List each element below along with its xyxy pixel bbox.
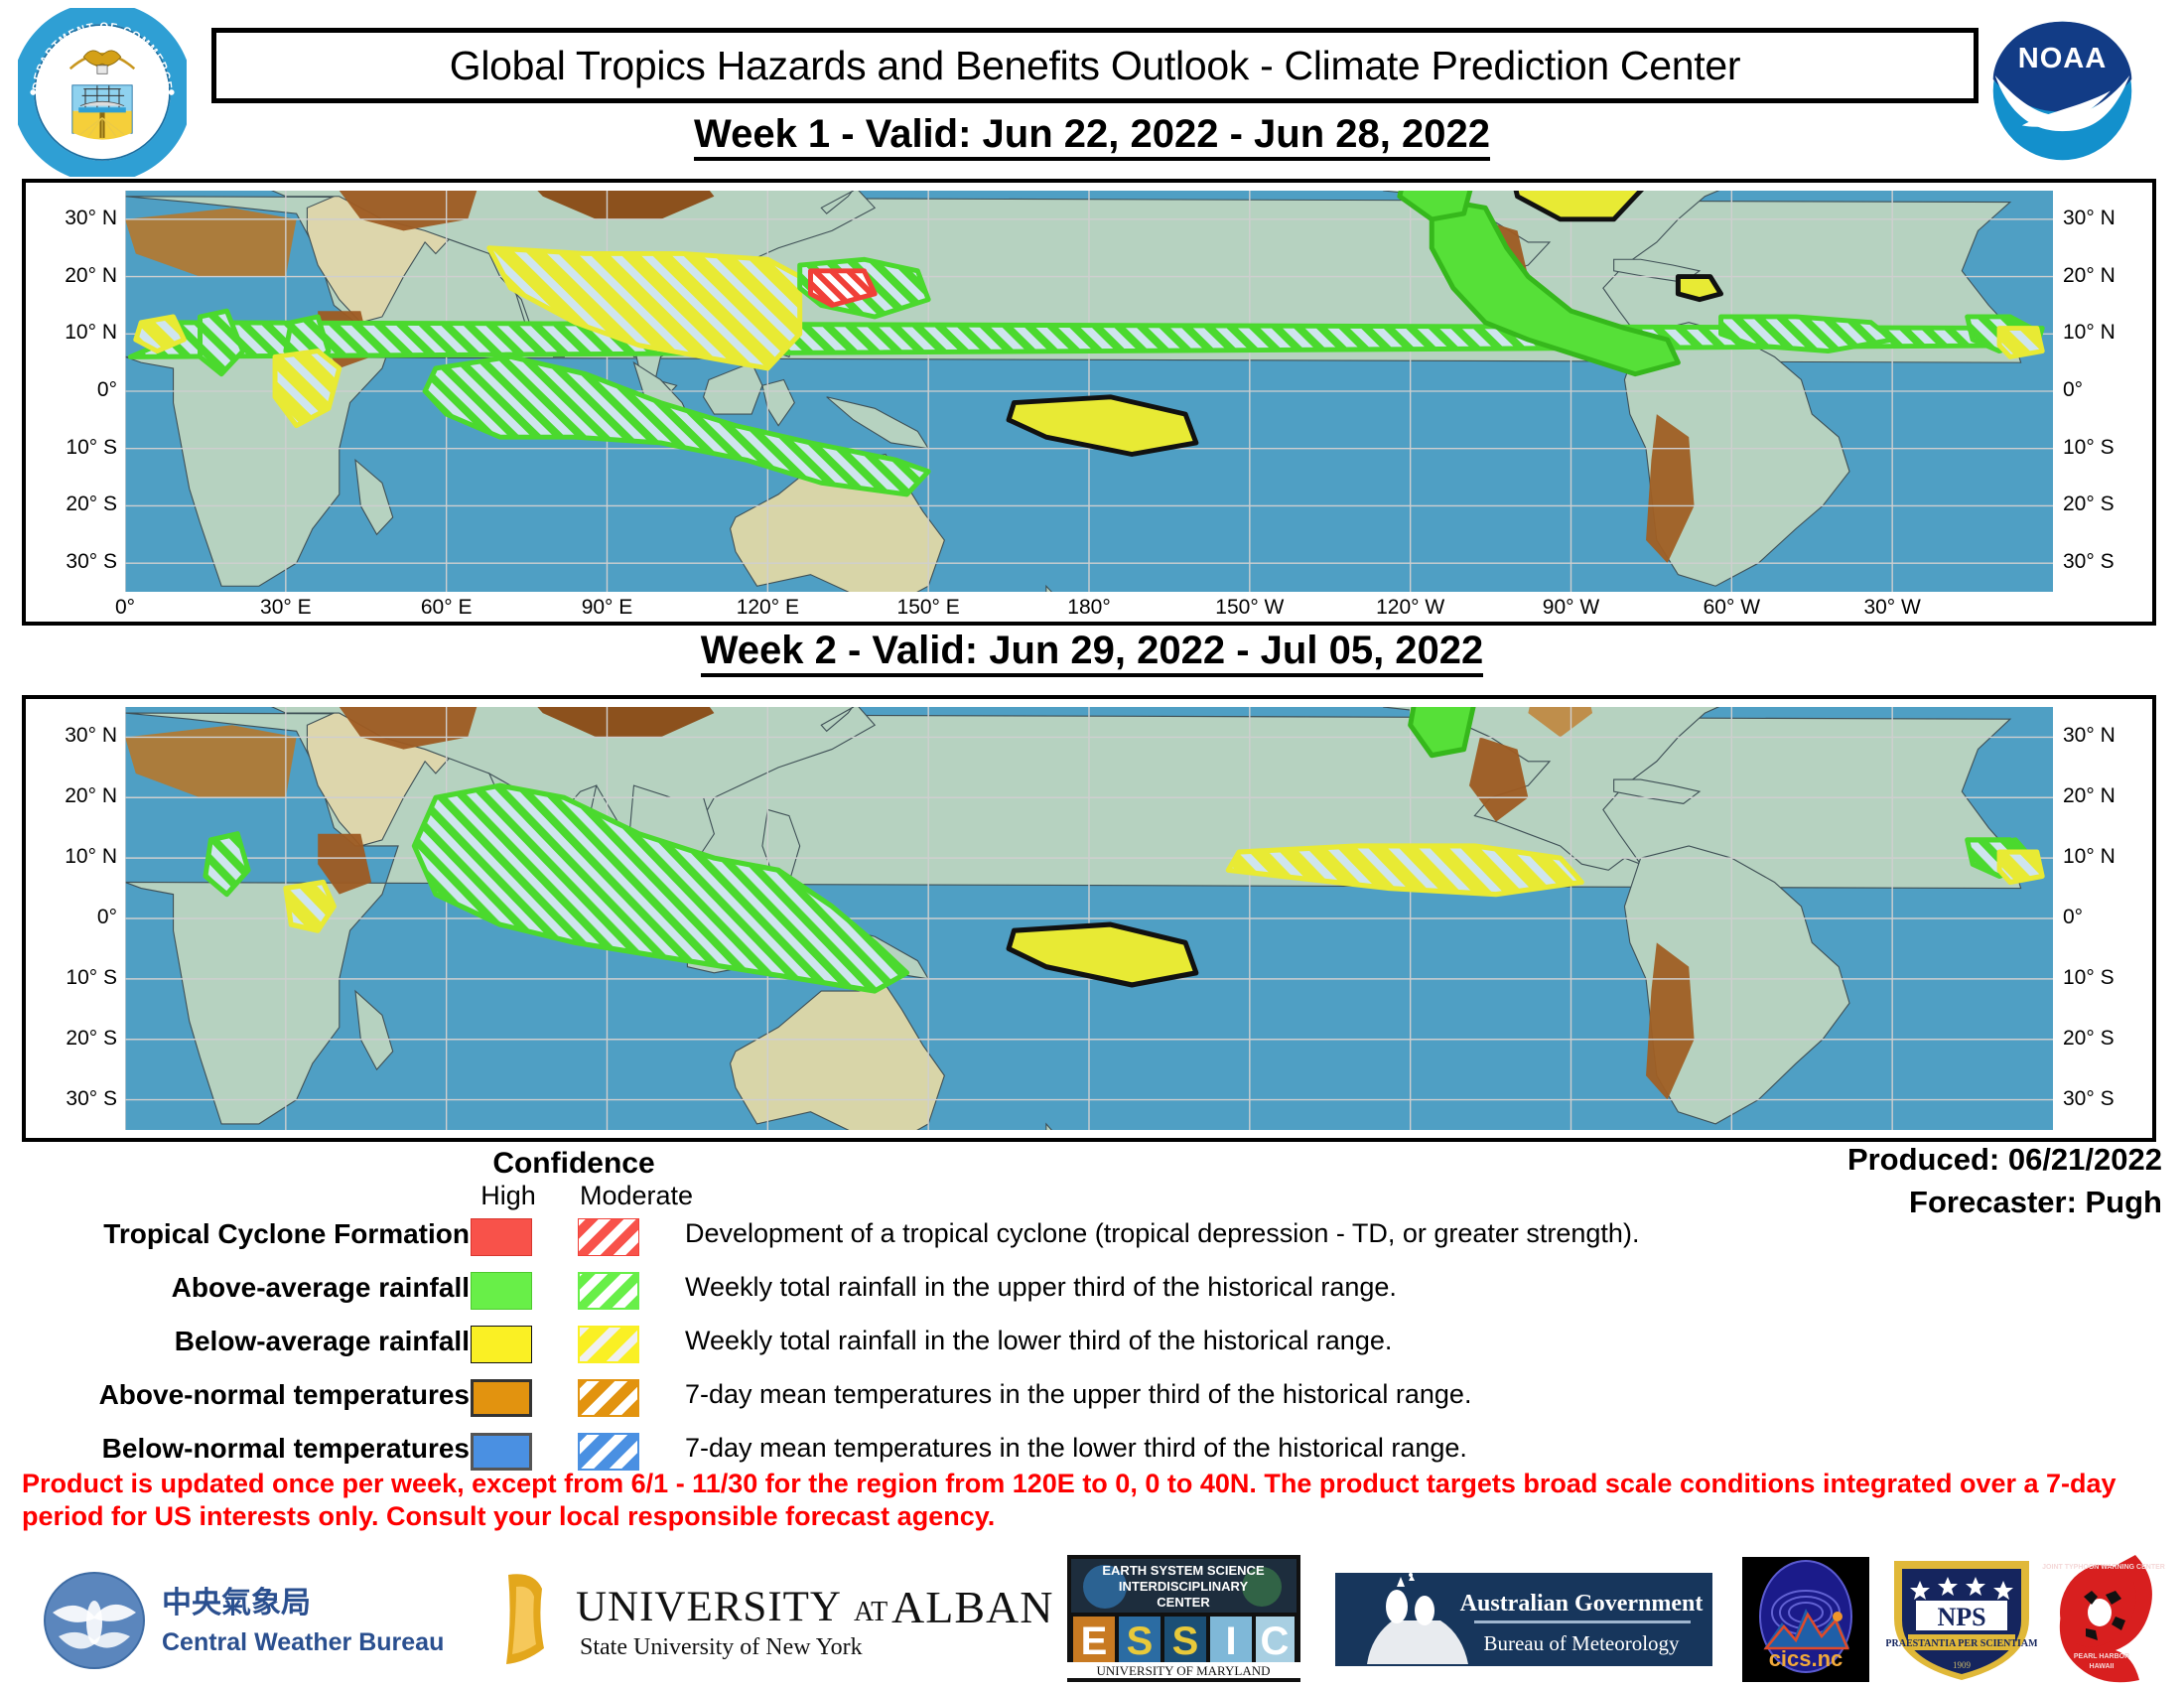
svg-text:E: E [1081,1619,1108,1663]
week1-title: Week 1 - Valid: Jun 22, 2022 - Jun 28, 2… [0,112,2184,157]
australian-bureau-of-meteorology-logo: Australian Government Bureau of Meteorol… [1335,1573,1712,1666]
svg-text:NOAA: NOAA [2018,43,2107,74]
swatch-above-rain-moderate [578,1272,639,1310]
map-svg [125,191,2053,592]
week2-title-text: Week 2 - Valid: Jun 29, 2022 - Jul 05, 2… [701,629,1484,677]
swatch-below-temp-moderate [578,1433,639,1471]
legend-description: Weekly total rainfall in the lower third… [685,1326,1392,1356]
swatch-below-temp-high [471,1433,532,1471]
central-weather-bureau-logo: 中央氣象局 Central Weather Bureau [35,1567,452,1670]
lat-label-left: 10° N [26,845,117,869]
lat-label-left: 30° N [26,724,117,748]
lon-label: 90° W [1543,596,1599,620]
swatch-below-rain-high [471,1326,532,1363]
legend-row-above-normal-temperatures: Above-normal temperatures 7-day mean tem… [0,1379,2184,1425]
svg-text:C: C [1261,1619,1290,1663]
week2-map-panel: 30° N30° N20° N20° N10° N10° N0°0°10° S1… [22,695,2156,1142]
lat-label-right: 10° S [2063,436,2115,460]
legend-label: Above-normal temperatures [99,1379,470,1411]
confidence-header: Confidence [475,1147,673,1181]
swatch-tc-moderate [578,1218,639,1256]
lon-label: 120° W [1376,596,1444,620]
lon-label: 150° W [1215,596,1284,620]
lat-label-right: 30° N [2063,724,2116,748]
lat-label-right: 0° [2063,378,2083,402]
lat-label-right: 30° S [2063,1087,2115,1111]
lat-label-left: 10° S [26,966,117,990]
svg-text:S: S [1172,1619,1199,1663]
lat-label-left: 0° [26,906,117,929]
lat-label-left: 30° S [26,550,117,574]
legend-description: 7-day mean temperatures in the lower thi… [685,1433,1467,1464]
forecaster-name: Forecaster: Pugh [1909,1185,2162,1220]
legend-description: Weekly total rainfall in the upper third… [685,1272,1397,1303]
svg-text:Australian Government: Australian Government [1460,1591,1704,1617]
lat-label-right: 10° S [2063,966,2115,990]
swatch-tc-high [471,1218,532,1256]
page-title: Global Tropics Hazards and Benefits Outl… [450,43,1740,89]
partner-logos: 中央氣象局 Central Weather Bureau UNIVERSITY … [0,1549,2184,1688]
confidence-high-label: High [463,1181,554,1211]
legend-label: Below-normal temperatures [102,1433,470,1465]
produced-date: Produced: 06/21/2022 [1847,1142,2162,1178]
svg-text:I: I [1225,1619,1236,1663]
lon-label: 60° W [1704,596,1760,620]
lat-label-right: 20° S [2063,1027,2115,1051]
main-title-box: Global Tropics Hazards and Benefits Outl… [211,28,1979,103]
lat-label-left: 20° S [26,1027,117,1051]
svg-text:CENTER: CENTER [1157,1595,1210,1610]
svg-text:1909: 1909 [1953,1660,1972,1670]
legend-row-below-average-rainfall: Below-average rainfall Weekly total rain… [0,1326,2184,1371]
swatch-above-temp-moderate [578,1379,639,1417]
svg-text:UNIVERSITY OF MARYLAND: UNIVERSITY OF MARYLAND [1096,1663,1270,1678]
disclaimer-text: Product is updated once per week, except… [22,1468,2166,1533]
legend-description: Development of a tropical cyclone (tropi… [685,1218,1639,1249]
university-at-albany-logo: UNIVERSITY AT ALBANY State University of… [496,1569,1052,1668]
legend-label: Tropical Cyclone Formation [103,1218,470,1250]
svg-text:PRAESTANTIA PER SCIENTIAM: PRAESTANTIA PER SCIENTIAM [1886,1638,2037,1649]
lat-label-left: 10° N [26,321,117,345]
lat-label-left: 30° N [26,207,117,230]
lon-label: 30° W [1863,596,1920,620]
lat-label-right: 30° S [2063,550,2115,574]
svg-text:S: S [1127,1619,1154,1663]
legend-description: 7-day mean temperatures in the upper thi… [685,1379,1471,1410]
lon-label: 120° E [737,596,799,620]
lat-label-right: 10° N [2063,321,2116,345]
week1-map-canvas[interactable] [125,191,2053,592]
lat-label-left: 20° N [26,784,117,808]
cwb-english-label: Central Weather Bureau [162,1628,444,1656]
svg-text:INTERDISCIPLINARY: INTERDISCIPLINARY [1119,1579,1249,1594]
lat-label-right: 0° [2063,906,2083,929]
svg-text:JOINT TYPHOON WARNING CENTER: JOINT TYPHOON WARNING CENTER [2042,1564,2165,1571]
week2-title: Week 2 - Valid: Jun 29, 2022 - Jul 05, 2… [0,629,2184,673]
swatch-above-rain-high [471,1272,532,1310]
cwb-chinese-label: 中央氣象局 [162,1586,311,1620]
lat-label-left: 20° S [26,492,117,516]
joint-typhoon-warning-center-logo: JOINT TYPHOON WARNING CENTER PEARL HARBO… [2040,1551,2167,1686]
lon-label: 60° E [421,596,473,620]
svg-text:NPS: NPS [1937,1603,1985,1631]
hazard-below-rain-africa-coast-e2[interactable] [1999,852,2042,882]
lon-label: 180° [1067,596,1110,620]
lat-label-right: 10° N [2063,845,2116,869]
naval-postgraduate-school-logo: NPS PRAESTANTIA PER SCIENTIAM 1909 [1886,1553,2037,1684]
svg-text:cics.nc: cics.nc [1769,1646,1843,1671]
legend-label: Below-average rainfall [175,1326,470,1357]
svg-text:HAWAII: HAWAII [2090,1663,2115,1670]
lat-label-left: 0° [26,378,117,402]
svg-text:PEARL HARBOR: PEARL HARBOR [2074,1653,2129,1660]
lat-label-left: 10° S [26,436,117,460]
confidence-moderate-label: Moderate [562,1181,711,1211]
legend-row-above-average-rainfall: Above-average rainfall Weekly total rain… [0,1272,2184,1318]
svg-text:Bureau of Meteorology: Bureau of Meteorology [1483,1631,1680,1655]
lat-label-left: 30° S [26,1087,117,1111]
lon-label: 90° E [582,596,633,620]
lat-label-right: 20° N [2063,264,2116,288]
cics-nc-logo: cics.nc [1742,1557,1869,1682]
week1-map-panel: 30° N30° N20° N20° N10° N10° N0°0°10° S1… [22,179,2156,626]
lat-label-right: 20° N [2063,784,2116,808]
week1-title-text: Week 1 - Valid: Jun 22, 2022 - Jun 28, 2… [694,112,1490,161]
svg-text:UNIVERSITY: UNIVERSITY [576,1584,842,1630]
essic-logo: EARTH SYSTEM SCIENCE INTERDISCIPLINARY C… [1067,1555,1300,1682]
svg-text:AT: AT [854,1597,887,1627]
swatch-above-temp-high [471,1379,532,1417]
legend-row-tropical-cyclone: Tropical Cyclone Formation Development o… [0,1218,2184,1264]
lat-label-right: 20° S [2063,492,2115,516]
lat-label-left: 20° N [26,264,117,288]
lat-label-right: 30° N [2063,207,2116,230]
legend-label: Above-average rainfall [172,1272,470,1304]
week2-map-canvas[interactable] [125,707,2053,1130]
swatch-below-rain-moderate [578,1326,639,1363]
svg-text:ALBANY: ALBANY [891,1582,1052,1632]
svg-text:State University of New York: State University of New York [580,1634,863,1660]
lon-label: 150° E [897,596,960,620]
lon-label: 0° [115,596,135,620]
svg-text:EARTH SYSTEM SCIENCE: EARTH SYSTEM SCIENCE [1102,1563,1265,1578]
hazard-below-rain-africa-coast-e2[interactable] [1999,329,2042,357]
lon-label: 30° E [260,596,312,620]
hazard-below-rain-hispaniola[interactable] [1678,277,1720,300]
map-svg [125,707,2053,1130]
